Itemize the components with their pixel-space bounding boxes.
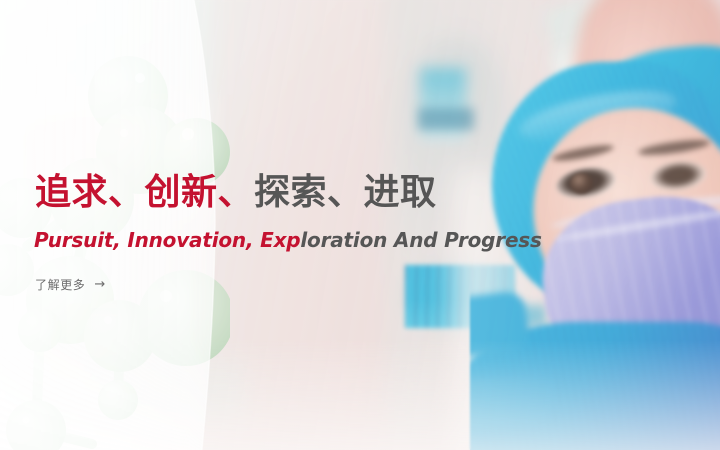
subheadline-red-segment: Pursuit, Innovation, Exp bbox=[34, 228, 300, 252]
hero-banner: 追求、创新、探索、进取 Pursuit, Innovation, Explora… bbox=[0, 0, 720, 450]
learn-more-label: 了解更多 bbox=[35, 276, 85, 293]
headline-gray-segment: 探索、进取 bbox=[254, 172, 437, 213]
banner-subheadline: Pursuit, Innovation, Exploration And Pro… bbox=[34, 228, 542, 252]
headline-red-segment: 追求、创新、 bbox=[35, 172, 254, 213]
arrow-right-icon: → bbox=[94, 278, 106, 291]
banner-copy: 追求、创新、探索、进取 Pursuit, Innovation, Explora… bbox=[0, 0, 720, 450]
learn-more-link[interactable]: 了解更多 → bbox=[35, 276, 106, 293]
banner-headline: 追求、创新、探索、进取 bbox=[35, 172, 437, 214]
subheadline-gray-segment: loration And Progress bbox=[300, 228, 541, 252]
